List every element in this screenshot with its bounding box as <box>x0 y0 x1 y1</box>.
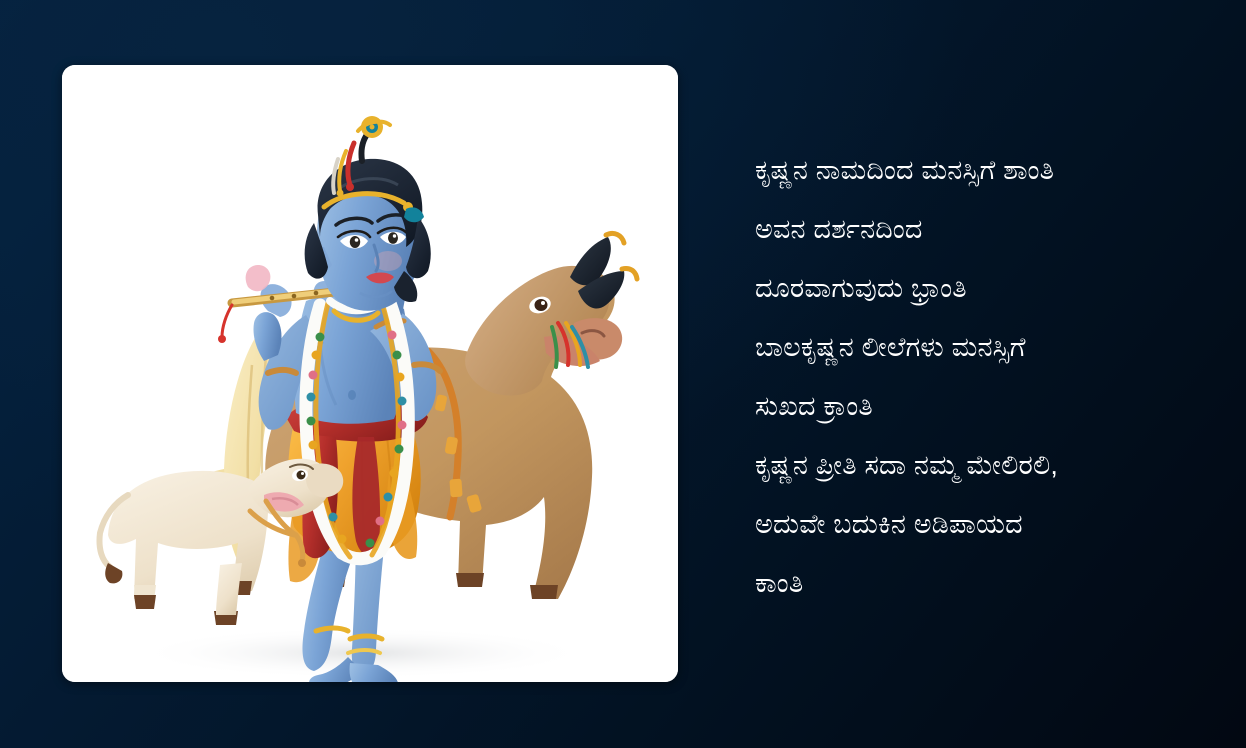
quote-line-6: ಕೃಷ್ಣನ ಪ್ರೀತಿ ಸದಾ ನಮ್ಮ ಮೇಲಿರಲಿ, <box>755 436 1225 495</box>
quote-text-block: ಕೃಷ್ಣನ ನಾಮದಿಂದ ಮನಸ್ಸಿಗೆ ಶಾಂತಿ ಅವನ ದರ್ಶನದ… <box>755 141 1225 613</box>
quote-line-7: ಅದುವೇ ಬದುಕಿನ ಅಡಿಪಾಯದ <box>755 495 1225 554</box>
krishna-with-cow-and-calf-illustration <box>62 65 678 682</box>
quote-line-3: ದೂರವಾಗುವುದು ಭ್ರಾಂತಿ <box>755 259 1225 318</box>
quote-line-4: ಬಾಲಕೃಷ್ಣನ ಲೀಲೆಗಳು ಮನಸ್ಸಿಗೆ <box>755 318 1225 377</box>
illustration-card <box>62 65 678 682</box>
quote-line-1: ಕೃಷ್ಣನ ನಾಮದಿಂದ ಮನಸ್ಸಿಗೆ ಶಾಂತಿ <box>755 141 1225 200</box>
quote-line-5: ಸುಖದ ಕ್ರಾಂತಿ <box>755 377 1225 436</box>
quote-line-8: ಕಾಂತಿ <box>755 554 1225 613</box>
krishna-armband-right <box>268 370 296 373</box>
quote-image-canvas: ಕೃಷ್ಣನ ನಾಮದಿಂದ ಮನಸ್ಸಿಗೆ ಶಾಂತಿ ಅವನ ದರ್ಶನದ… <box>0 0 1246 748</box>
quote-line-2: ಅವನ ದರ್ಶನದಿಂದ <box>755 200 1225 259</box>
